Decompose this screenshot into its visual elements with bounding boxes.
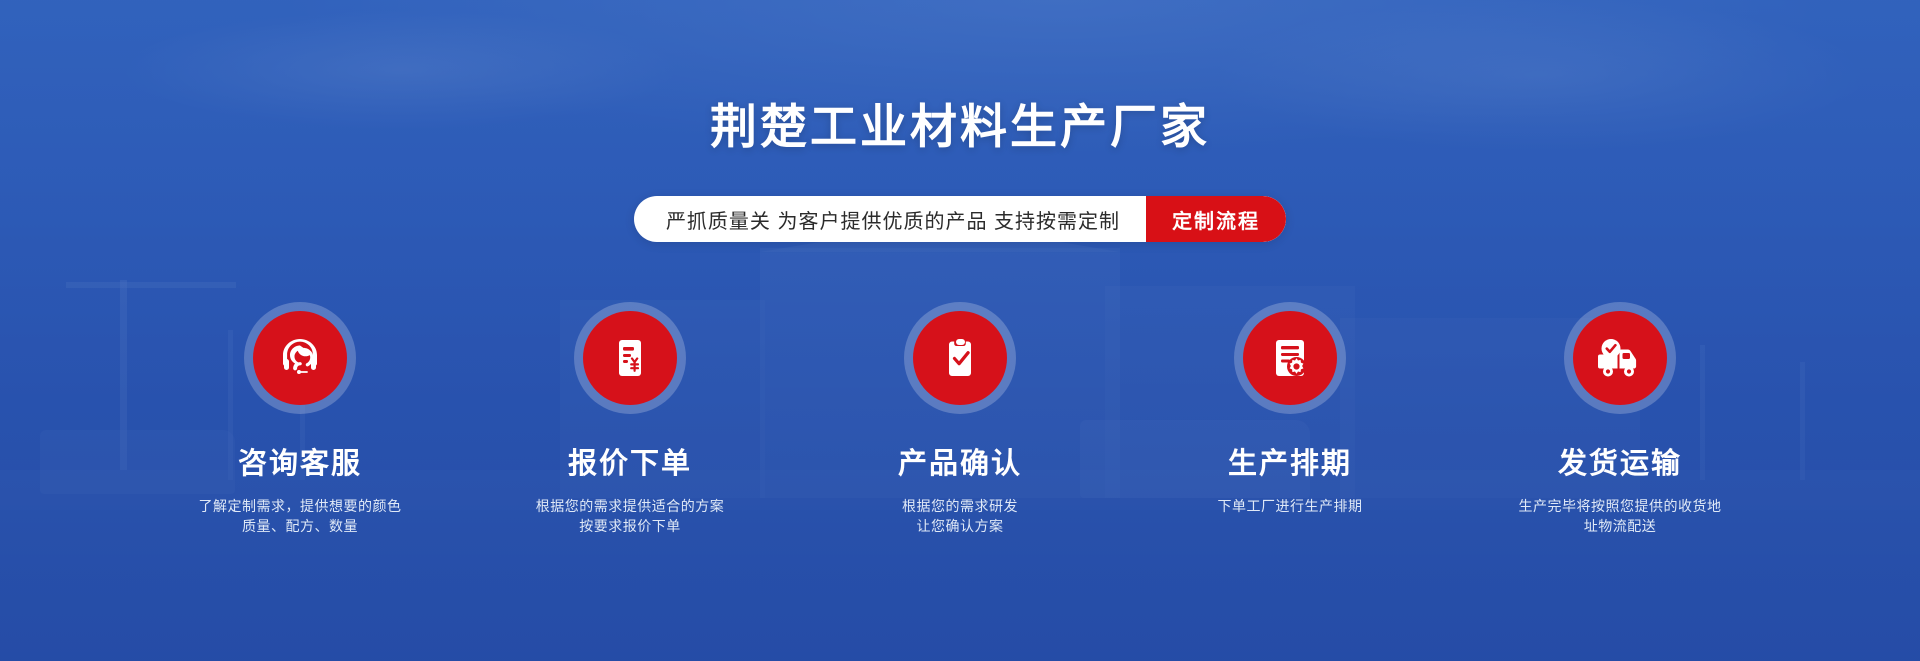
step-2-desc-line-2: 按要求报价下单: [536, 516, 725, 536]
step-1-desc-line-2: 质量、配方、数量: [199, 516, 402, 536]
step-5-icon-disc: [1573, 311, 1667, 405]
headset-icon: [274, 332, 326, 384]
step-4-desc-line-1: 下单工厂进行生产排期: [1218, 496, 1363, 516]
step-2-icon-disc: [583, 311, 677, 405]
step-3-icon-ring[interactable]: [904, 302, 1016, 414]
step-4-description: 下单工厂进行生产排期: [1218, 496, 1363, 516]
step-5-title: 发货运输: [1558, 450, 1682, 479]
process-step-1[interactable]: 咨询客服 了解定制需求，提供想要的颜色 质量、配方、数量: [166, 302, 434, 536]
banner-content: 荆楚工业材料生产厂家 严抓质量关 为客户提供优质的产品 支持按需定制 定制流程: [0, 0, 1920, 661]
step-5-desc-line-2: 址物流配送: [1519, 516, 1722, 536]
step-3-icon-disc: [913, 311, 1007, 405]
step-5-icon-ring[interactable]: [1564, 302, 1676, 414]
clipboard-check-icon: [936, 334, 984, 382]
step-5-desc-line-1: 生产完毕将按照您提供的收货地: [1519, 496, 1722, 516]
tagline-pill: 严抓质量关 为客户提供优质的产品 支持按需定制 定制流程: [634, 196, 1286, 242]
step-2-icon-ring[interactable]: [574, 302, 686, 414]
process-step-4[interactable]: 生产排期 下单工厂进行生产排期: [1156, 302, 1424, 536]
step-1-icon-ring[interactable]: [244, 302, 356, 414]
step-2-desc-line-1: 根据您的需求提供适合的方案: [536, 496, 725, 516]
step-4-icon-disc: [1243, 311, 1337, 405]
document-gear-icon: [1266, 334, 1314, 382]
step-3-title: 产品确认: [898, 450, 1022, 479]
process-step-5[interactable]: 发货运输 生产完毕将按照您提供的收货地 址物流配送: [1486, 302, 1754, 536]
tagline-bar: 严抓质量关 为客户提供优质的产品 支持按需定制 定制流程: [0, 196, 1920, 242]
step-5-description: 生产完毕将按照您提供的收货地 址物流配送: [1519, 496, 1722, 536]
step-4-title: 生产排期: [1228, 450, 1352, 479]
delivery-truck-icon: [1594, 334, 1646, 382]
step-3-description: 根据您的需求研发 让您确认方案: [902, 496, 1018, 536]
step-1-icon-disc: [253, 311, 347, 405]
process-steps: 咨询客服 了解定制需求，提供想要的颜色 质量、配方、数量: [0, 302, 1920, 536]
tagline-text: 严抓质量关 为客户提供优质的产品 支持按需定制: [634, 196, 1146, 242]
custom-process-button[interactable]: 定制流程: [1146, 196, 1286, 242]
page-title: 荆楚工业材料生产厂家: [0, 88, 1920, 157]
process-step-2[interactable]: 报价下单 根据您的需求提供适合的方案 按要求报价下单: [496, 302, 764, 536]
step-1-title: 咨询客服: [238, 450, 362, 479]
invoice-yuan-icon: [606, 334, 654, 382]
step-2-title: 报价下单: [568, 450, 692, 479]
process-step-3[interactable]: 产品确认 根据您的需求研发 让您确认方案: [826, 302, 1094, 536]
promo-banner: 荆楚工业材料生产厂家 严抓质量关 为客户提供优质的产品 支持按需定制 定制流程: [0, 0, 1920, 661]
step-3-desc-line-1: 根据您的需求研发: [902, 496, 1018, 516]
step-2-description: 根据您的需求提供适合的方案 按要求报价下单: [536, 496, 725, 536]
step-3-desc-line-2: 让您确认方案: [902, 516, 1018, 536]
step-1-desc-line-1: 了解定制需求，提供想要的颜色: [199, 496, 402, 516]
step-4-icon-ring[interactable]: [1234, 302, 1346, 414]
step-1-description: 了解定制需求，提供想要的颜色 质量、配方、数量: [199, 496, 402, 536]
